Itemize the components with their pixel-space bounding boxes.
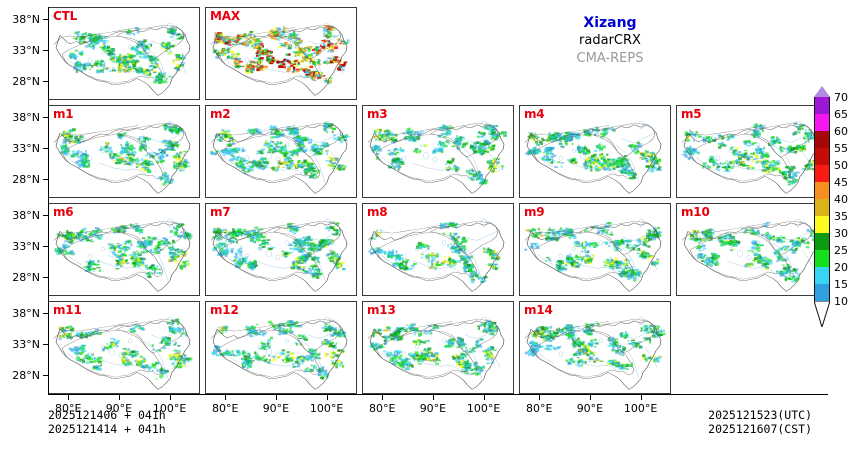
footer-right-line1: 2025121523(UTC) — [708, 408, 812, 422]
map-panel-m13[interactable]: m13 — [362, 301, 514, 394]
y-axis-label: 33°N — [0, 339, 40, 350]
colorbar-segment — [814, 148, 830, 165]
title-block: Xizang radarCRX CMA-REPS — [480, 14, 740, 68]
radar-echo-layer — [54, 223, 193, 278]
lake-layer — [559, 219, 644, 260]
colorbar-tick-label: 70 — [834, 92, 860, 103]
panel-label-m3: m3 — [367, 107, 387, 121]
map-panel-m4[interactable]: m4 — [519, 105, 671, 198]
page-title: Xizang — [480, 14, 740, 32]
colorbar-tick-label: 45 — [834, 177, 860, 188]
map-panel-m12[interactable]: m12 — [205, 301, 357, 394]
radar-echo-layer — [59, 319, 193, 380]
y-axis-label: 33°N — [0, 241, 40, 252]
radar-echo-layer — [211, 320, 346, 380]
map-panel-m1[interactable]: m1 — [48, 105, 200, 198]
panel-label-max: MAX — [210, 9, 240, 23]
colorbar-tick-label: 55 — [834, 143, 860, 154]
y-axis-label: 28°N — [0, 174, 40, 185]
y-axis-label: 38°N — [0, 308, 40, 319]
panel-label-m10: m10 — [681, 205, 710, 219]
footer-init-times: 2025121406 + 041h 2025121414 + 041h — [48, 408, 166, 436]
panel-label-m12: m12 — [210, 303, 239, 317]
panel-label-m5: m5 — [681, 107, 701, 121]
panel-label-m1: m1 — [53, 107, 73, 121]
colorbar-tick-label: 60 — [834, 126, 860, 137]
panel-label-m4: m4 — [524, 107, 544, 121]
colorbar-tick-label: 35 — [834, 211, 860, 222]
x-axis-tick — [327, 395, 328, 400]
x-axis-tick — [170, 395, 171, 400]
y-axis-label: 33°N — [0, 45, 40, 56]
panel-label-m9: m9 — [524, 205, 544, 219]
colorbar-tick-label: 40 — [834, 194, 860, 205]
panel-label-m11: m11 — [53, 303, 82, 317]
panel-label-m13: m13 — [367, 303, 396, 317]
colorbar-segment — [814, 182, 830, 199]
x-axis-tick — [119, 395, 120, 400]
colorbar-segment — [814, 165, 830, 182]
map-panel-ctl[interactable]: CTL — [48, 7, 200, 100]
y-axis-label: 28°N — [0, 370, 40, 381]
colorbar-tick-label: 10 — [834, 296, 860, 307]
colorbar-over-arrow — [814, 86, 830, 97]
x-axis-tick — [484, 395, 485, 400]
colorbar-segment — [814, 233, 830, 250]
x-axis-label: 80°E — [200, 403, 250, 414]
variable-label: radarCRX — [480, 32, 740, 50]
footer-valid-times: 2025121523(UTC) 2025121607(CST) — [708, 408, 812, 436]
colorbar-tick-label: 20 — [834, 262, 860, 273]
x-axis-tick — [590, 395, 591, 400]
colorbar-segment — [814, 97, 830, 114]
map-panel-m14[interactable]: m14 — [519, 301, 671, 394]
x-axis-tick — [382, 395, 383, 400]
colorbar-tick-label: 30 — [834, 228, 860, 239]
radar-echo-layer — [213, 25, 350, 84]
colorbar-tick-label: 50 — [834, 160, 860, 171]
x-axis-label: 80°E — [514, 403, 564, 414]
footer-right-line2: 2025121607(CST) — [708, 422, 812, 436]
colorbar-segment — [814, 267, 830, 284]
panel-label-m14: m14 — [524, 303, 553, 317]
radar-echo-layer — [524, 222, 662, 282]
x-axis-tick — [539, 395, 540, 400]
map-panel-m11[interactable]: m11 — [48, 301, 200, 394]
footer-left-line1: 2025121406 + 041h — [48, 408, 166, 422]
x-axis-tick — [433, 395, 434, 400]
model-label: CMA-REPS — [480, 50, 740, 68]
panel-label-ctl: CTL — [53, 9, 77, 23]
panel-label-m7: m7 — [210, 205, 230, 219]
x-axis-label: 100°E — [616, 403, 666, 414]
footer-left-line2: 2025121414 + 041h — [48, 422, 166, 436]
colorbar-under-arrow — [814, 301, 830, 327]
boundary-layer — [368, 221, 498, 279]
radar-echo-layer — [690, 222, 819, 283]
x-axis-label: 90°E — [251, 403, 301, 414]
colorbar-tick-label: 25 — [834, 245, 860, 256]
x-axis-spine — [48, 394, 828, 395]
colorbar-segment — [814, 199, 830, 216]
radar-echo-layer — [60, 123, 191, 186]
panel-label-m2: m2 — [210, 107, 230, 121]
river-layer — [381, 221, 500, 280]
map-panel-m7[interactable]: m7 — [205, 203, 357, 296]
map-panel-m6[interactable]: m6 — [48, 203, 200, 296]
x-axis-tick — [276, 395, 277, 400]
y-axis-label: 28°N — [0, 272, 40, 283]
x-axis-tick — [641, 395, 642, 400]
map-panel-m9[interactable]: m9 — [519, 203, 671, 296]
map-panel-m3[interactable]: m3 — [362, 105, 514, 198]
colorbar-segment — [814, 114, 830, 131]
x-axis-tick — [68, 395, 69, 400]
map-panel-m10[interactable]: m10 — [676, 203, 828, 296]
y-axis-label: 33°N — [0, 143, 40, 154]
y-axis-label: 38°N — [0, 14, 40, 25]
y-axis-label: 28°N — [0, 76, 40, 87]
x-axis-label: 100°E — [459, 403, 509, 414]
x-axis-label: 100°E — [302, 403, 352, 414]
colorbar-tick-label: 65 — [834, 109, 860, 120]
map-panel-m5[interactable]: m5 — [676, 105, 828, 198]
radar-echo-layer — [369, 222, 501, 283]
x-axis-label: 90°E — [408, 403, 458, 414]
x-axis-label: 80°E — [357, 403, 407, 414]
map-panel-max[interactable]: MAX — [205, 7, 357, 100]
x-axis-tick — [225, 395, 226, 400]
y-axis-label: 38°N — [0, 112, 40, 123]
panel-label-m6: m6 — [53, 205, 73, 219]
colorbar-segment — [814, 284, 830, 301]
radar-echo-layer — [682, 122, 821, 185]
colorbar-segment — [814, 250, 830, 267]
y-axis-spine — [48, 7, 49, 394]
radar-echo-layer — [210, 122, 350, 178]
y-axis-label: 38°N — [0, 210, 40, 221]
panel-label-m8: m8 — [367, 205, 387, 219]
x-axis-label: 90°E — [565, 403, 615, 414]
map-panel-m8[interactable]: m8 — [362, 203, 514, 296]
colorbar-segment — [814, 216, 830, 233]
radar-echo-layer — [212, 222, 346, 279]
radar-echo-layer — [369, 320, 499, 376]
colorbar-tick-label: 15 — [834, 279, 860, 290]
map-panel-m2[interactable]: m2 — [205, 105, 357, 198]
colorbar-segment — [814, 131, 830, 148]
radar-echo-layer — [525, 321, 666, 370]
radar-echo-layer — [69, 27, 187, 84]
